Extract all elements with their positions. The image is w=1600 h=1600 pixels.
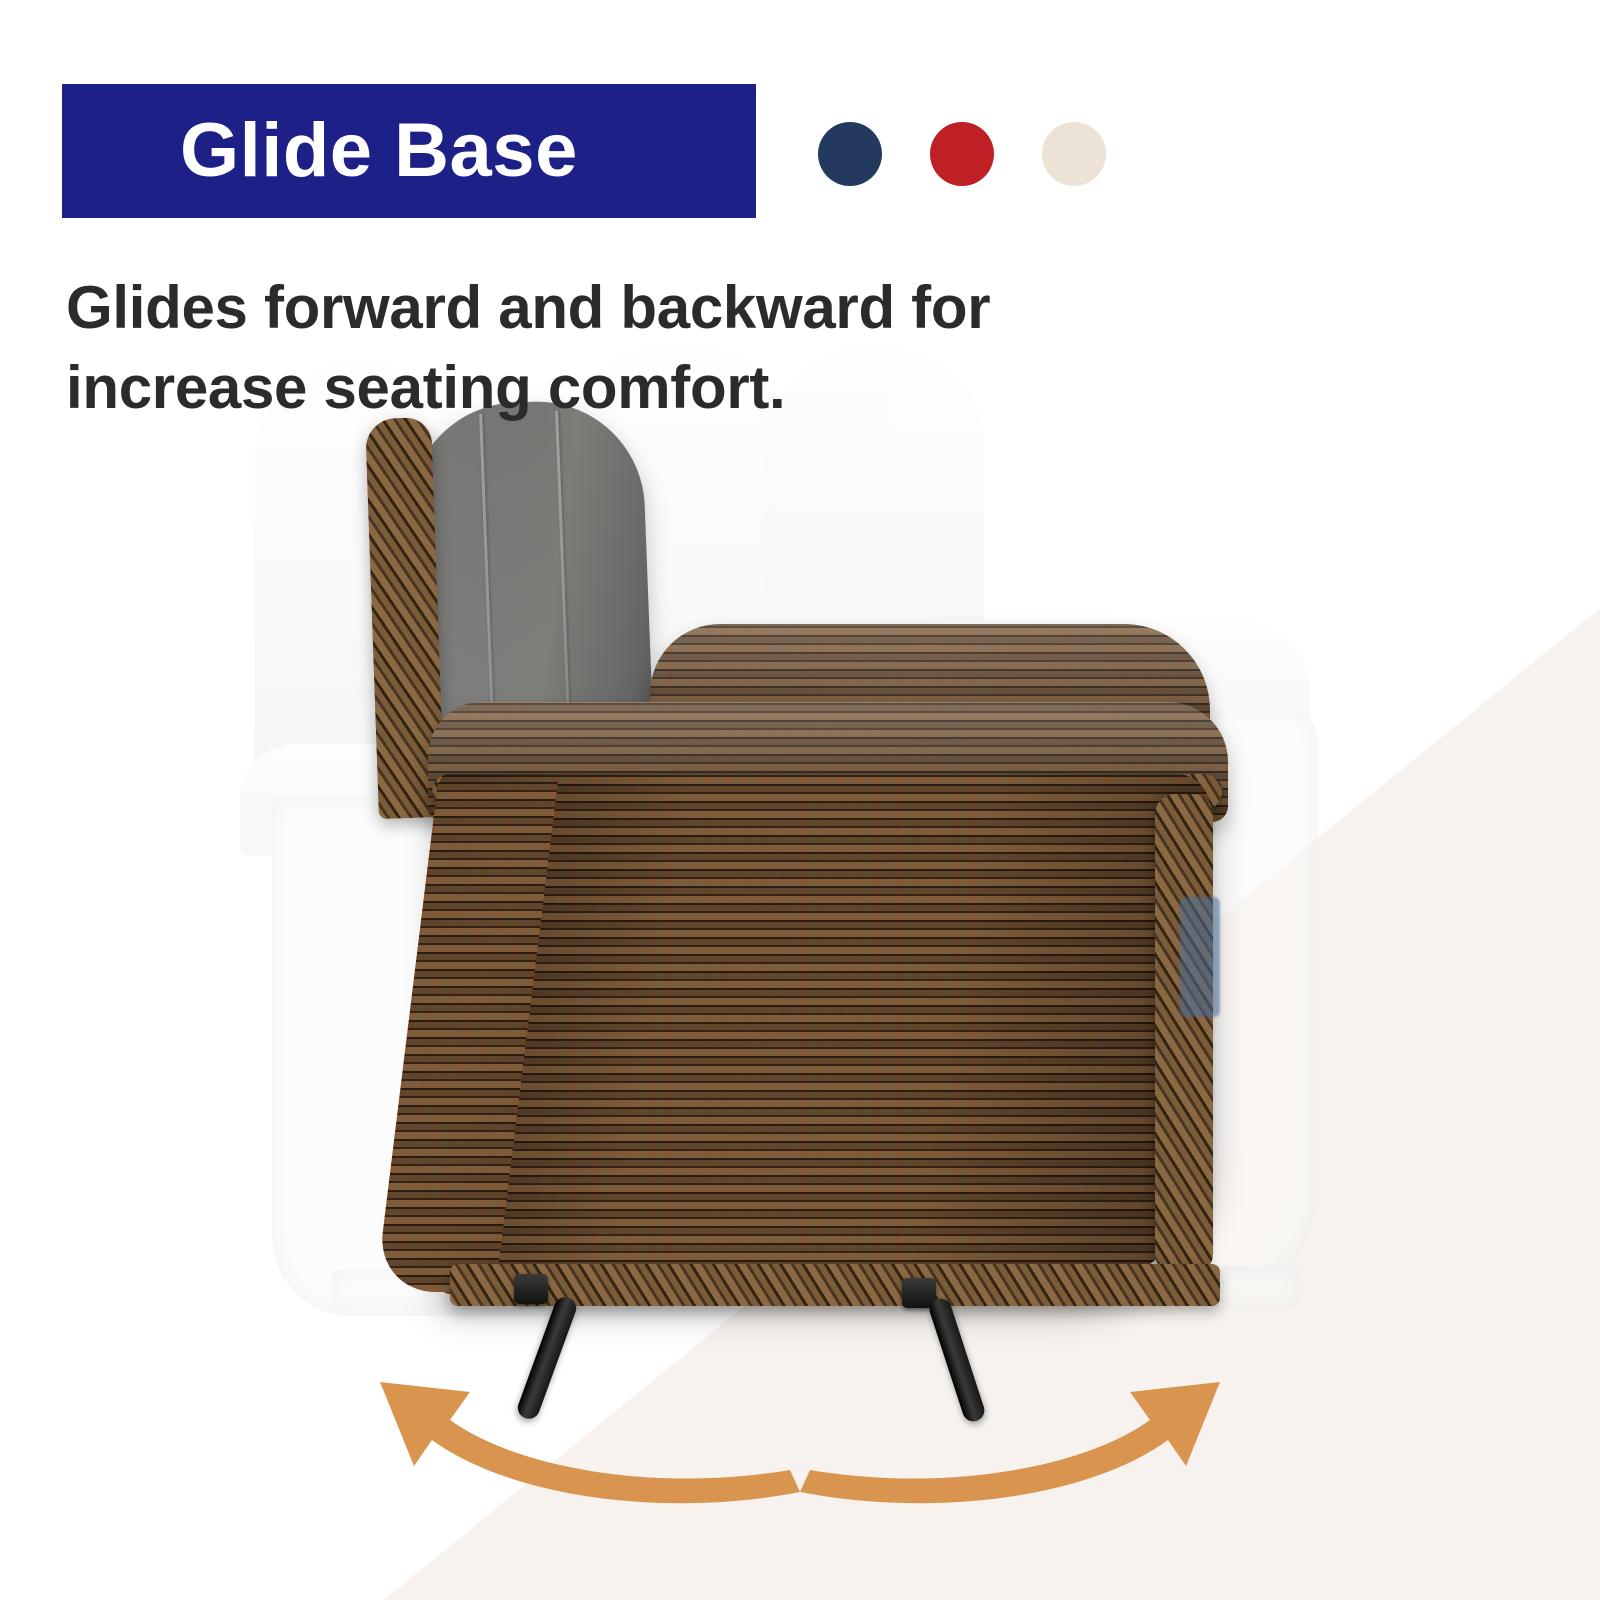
arrow-curve-left-icon xyxy=(380,1382,800,1503)
infographic-canvas: Glide Base Glides forward and backward f… xyxy=(0,0,1600,1600)
color-swatch-group xyxy=(818,122,1106,186)
color-swatch-red[interactable] xyxy=(930,122,994,186)
color-swatch-cream[interactable] xyxy=(1042,122,1106,186)
feature-description-line1: Glides forward and backward for xyxy=(66,268,1146,348)
arrow-curve-right-icon xyxy=(800,1382,1220,1503)
motion-arrows xyxy=(0,0,1600,1600)
feature-description: Glides forward and backward for increase… xyxy=(66,268,1146,428)
color-swatch-navy[interactable] xyxy=(818,122,882,186)
feature-description-line2: increase seating comfort. xyxy=(66,348,1146,428)
title-banner: Glide Base xyxy=(62,84,756,218)
page-title: Glide Base xyxy=(62,113,578,189)
